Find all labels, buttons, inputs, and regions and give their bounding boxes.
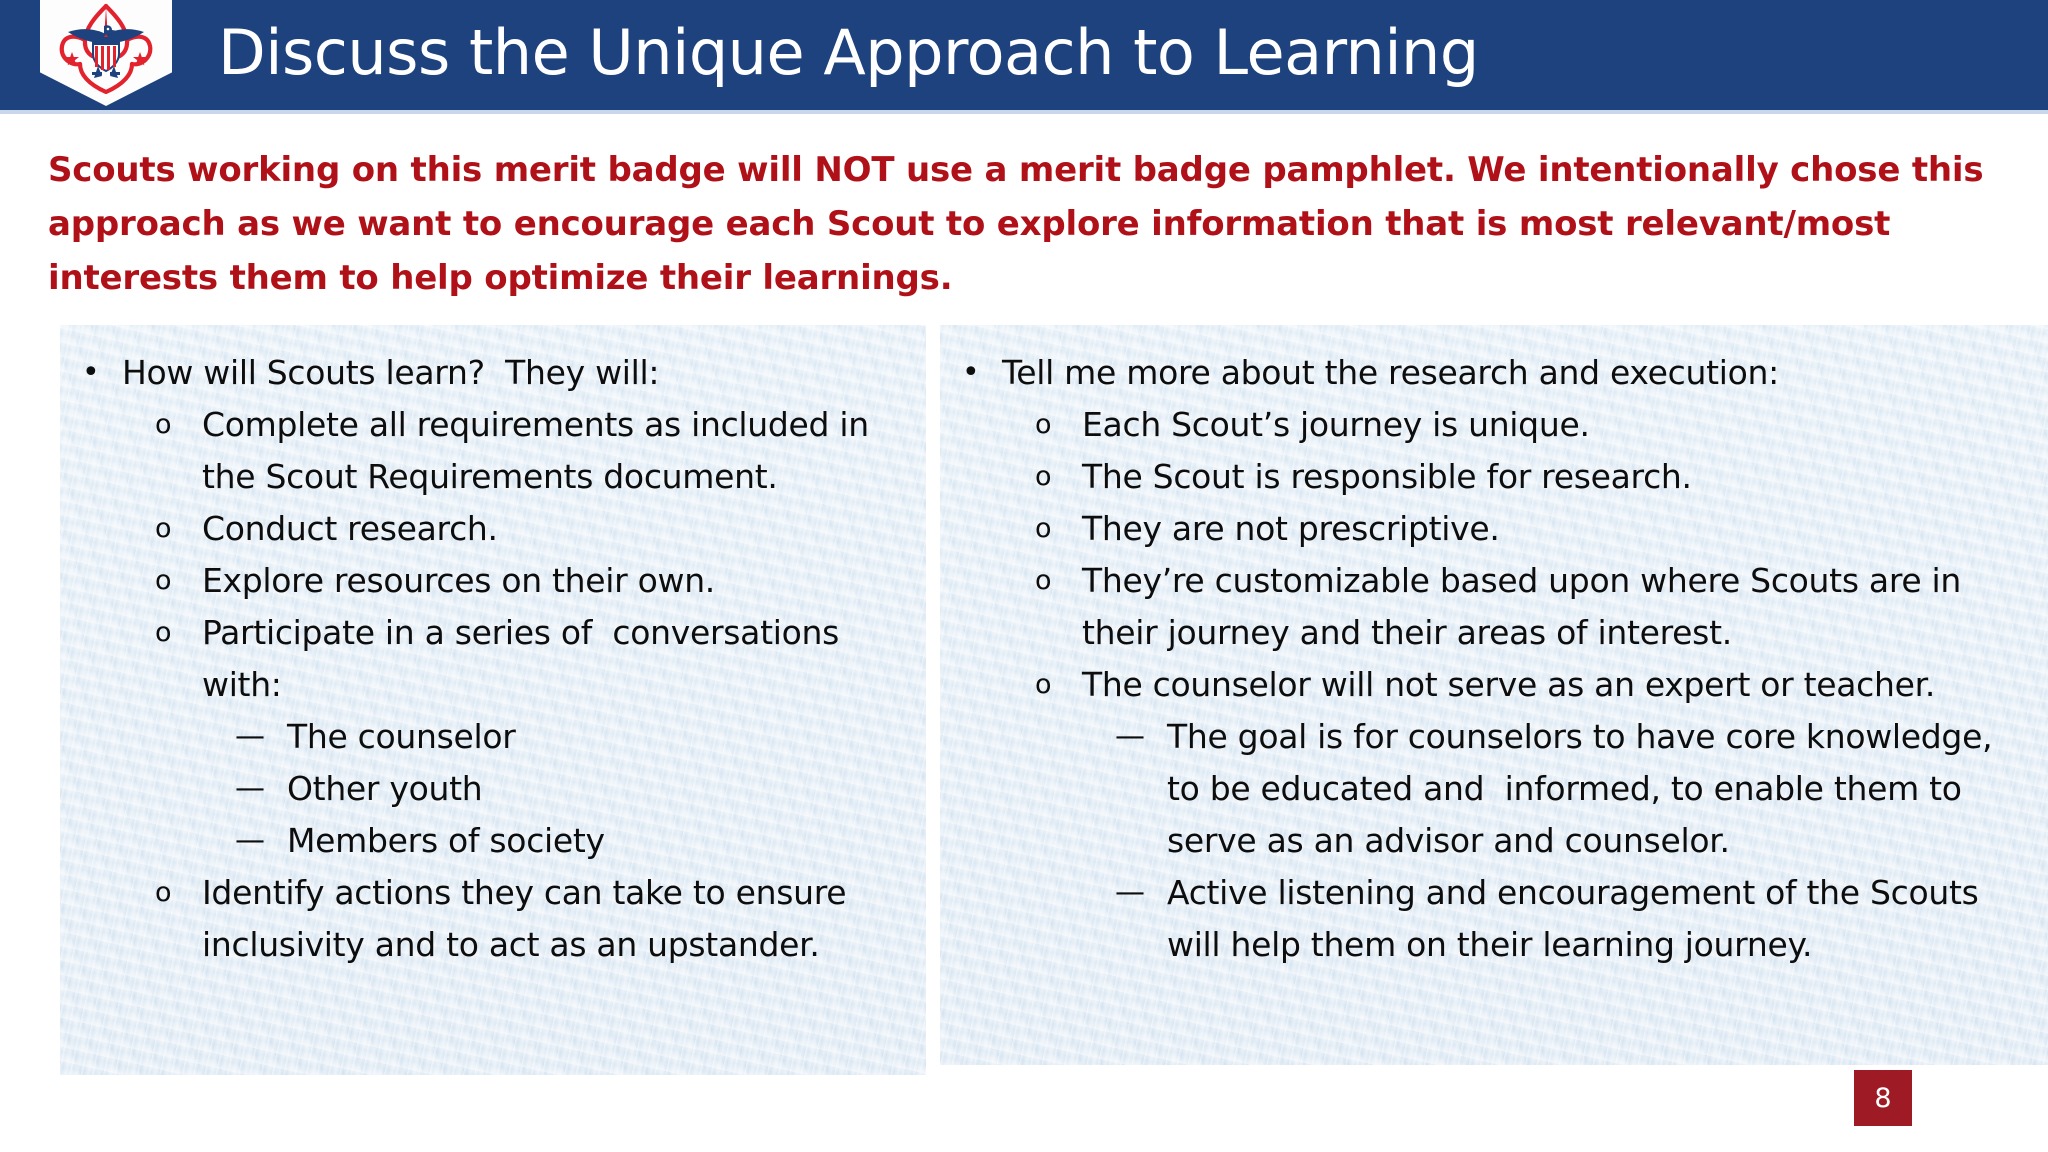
list-item-label: Tell me more about the research and exec… [1002,347,2034,399]
right-sublist-level-2: oEach Scout’s journey is unique.oThe Sco… [940,399,2034,971]
bullet-marker-icon: — [235,815,287,867]
list-item-label: Explore resources on their own. [202,555,912,607]
list-item: •Tell me more about the research and exe… [940,347,2034,971]
page-number-badge: 8 [1854,1070,1912,1126]
list-item-row: •Tell me more about the research and exe… [940,347,2034,399]
left-sublist-level-2: oComplete all requirements as included i… [60,399,912,971]
list-item-label: They are not prescriptive. [1082,503,2034,555]
list-item: —Members of society [60,815,912,867]
list-item-row: oThe Scout is responsible for research. [940,451,2034,503]
bullet-marker-icon: • [82,347,122,399]
bullet-marker-icon: o [1035,555,1082,607]
left-content-panel: •How will Scouts learn? They will:oCompl… [60,325,926,1075]
bullet-marker-icon: o [155,555,202,607]
list-item-label: How will Scouts learn? They will: [122,347,912,399]
list-item: oEach Scout’s journey is unique. [940,399,2034,451]
bullet-marker-icon: o [155,399,202,451]
list-item-label: Conduct research. [202,503,912,555]
list-item-row: —The goal is for counselors to have core… [940,711,2034,867]
list-item-row: oThey are not prescriptive. [940,503,2034,555]
list-item: •How will Scouts learn? They will:oCompl… [60,347,912,971]
list-item-label: Identify actions they can take to ensure… [202,867,912,971]
list-item: —Other youth [60,763,912,815]
bullet-marker-icon: o [1035,659,1082,711]
left-sublist-level-3: —The counselor—Other youth—Members of so… [60,711,912,867]
bullet-marker-icon: — [235,711,287,763]
right-bullet-list: •Tell me more about the research and exe… [940,347,2034,971]
list-item: oThey’re customizable based upon where S… [940,555,2034,659]
list-item-label: Complete all requirements as included in… [202,399,912,503]
list-item-row: oComplete all requirements as included i… [60,399,912,503]
bullet-marker-icon: — [1115,867,1167,919]
list-item: oConduct research. [60,503,912,555]
list-item-label: They’re customizable based upon where Sc… [1082,555,2034,659]
list-item: —Active listening and encouragement of t… [940,867,2034,971]
left-bullet-list: •How will Scouts learn? They will:oCompl… [60,347,912,971]
list-item: oThe counselor will not serve as an expe… [940,659,2034,971]
intro-paragraph: Scouts working on this merit badge will … [48,143,2008,305]
list-item-label: Other youth [287,763,912,815]
bullet-marker-icon: o [1035,503,1082,555]
bullet-marker-icon: • [962,347,1002,399]
list-item: oThey are not prescriptive. [940,503,2034,555]
list-item-label: The counselor will not serve as an exper… [1082,659,2034,711]
list-item-label: The goal is for counselors to have core … [1167,711,2034,867]
bullet-marker-icon: o [1035,399,1082,451]
list-item-row: oConduct research. [60,503,912,555]
title-bar-underline [0,110,2048,114]
list-item: oThe Scout is responsible for research. [940,451,2034,503]
list-item-row: oThe counselor will not serve as an expe… [940,659,2034,711]
list-item-row: oThey’re customizable based upon where S… [940,555,2034,659]
list-item-label: The counselor [287,711,912,763]
list-item: oIdentify actions they can take to ensur… [60,867,912,971]
list-item: —The goal is for counselors to have core… [940,711,2034,867]
list-item: oExplore resources on their own. [60,555,912,607]
bullet-marker-icon: — [1115,711,1167,763]
bullet-marker-icon: o [155,607,202,659]
bullet-marker-icon: — [235,763,287,815]
right-content-panel: •Tell me more about the research and exe… [940,325,2048,1065]
list-item-row: —Other youth [60,763,912,815]
list-item-row: oParticipate in a series of conversation… [60,607,912,711]
list-item-label: Each Scout’s journey is unique. [1082,399,2034,451]
list-item: oComplete all requirements as included i… [60,399,912,503]
bullet-marker-icon: o [155,503,202,555]
list-item-label: Active listening and encouragement of th… [1167,867,2034,971]
list-item-row: oIdentify actions they can take to ensur… [60,867,912,971]
list-item: —The counselor [60,711,912,763]
list-item-row: oExplore resources on their own. [60,555,912,607]
list-item-row: oEach Scout’s journey is unique. [940,399,2034,451]
list-item-row: —The counselor [60,711,912,763]
bullet-marker-icon: o [1035,451,1082,503]
list-item-row: —Members of society [60,815,912,867]
list-item-row: —Active listening and encouragement of t… [940,867,2034,971]
list-item-label: The Scout is responsible for research. [1082,451,2034,503]
right-sublist-level-3: —The goal is for counselors to have core… [940,711,2034,971]
page-title: Discuss the Unique Approach to Learning [218,3,1918,103]
bullet-marker-icon: o [155,867,202,919]
list-item-row: •How will Scouts learn? They will: [60,347,912,399]
list-item-label: Participate in a series of conversations… [202,607,912,711]
list-item: oParticipate in a series of conversation… [60,607,912,867]
list-item-label: Members of society [287,815,912,867]
